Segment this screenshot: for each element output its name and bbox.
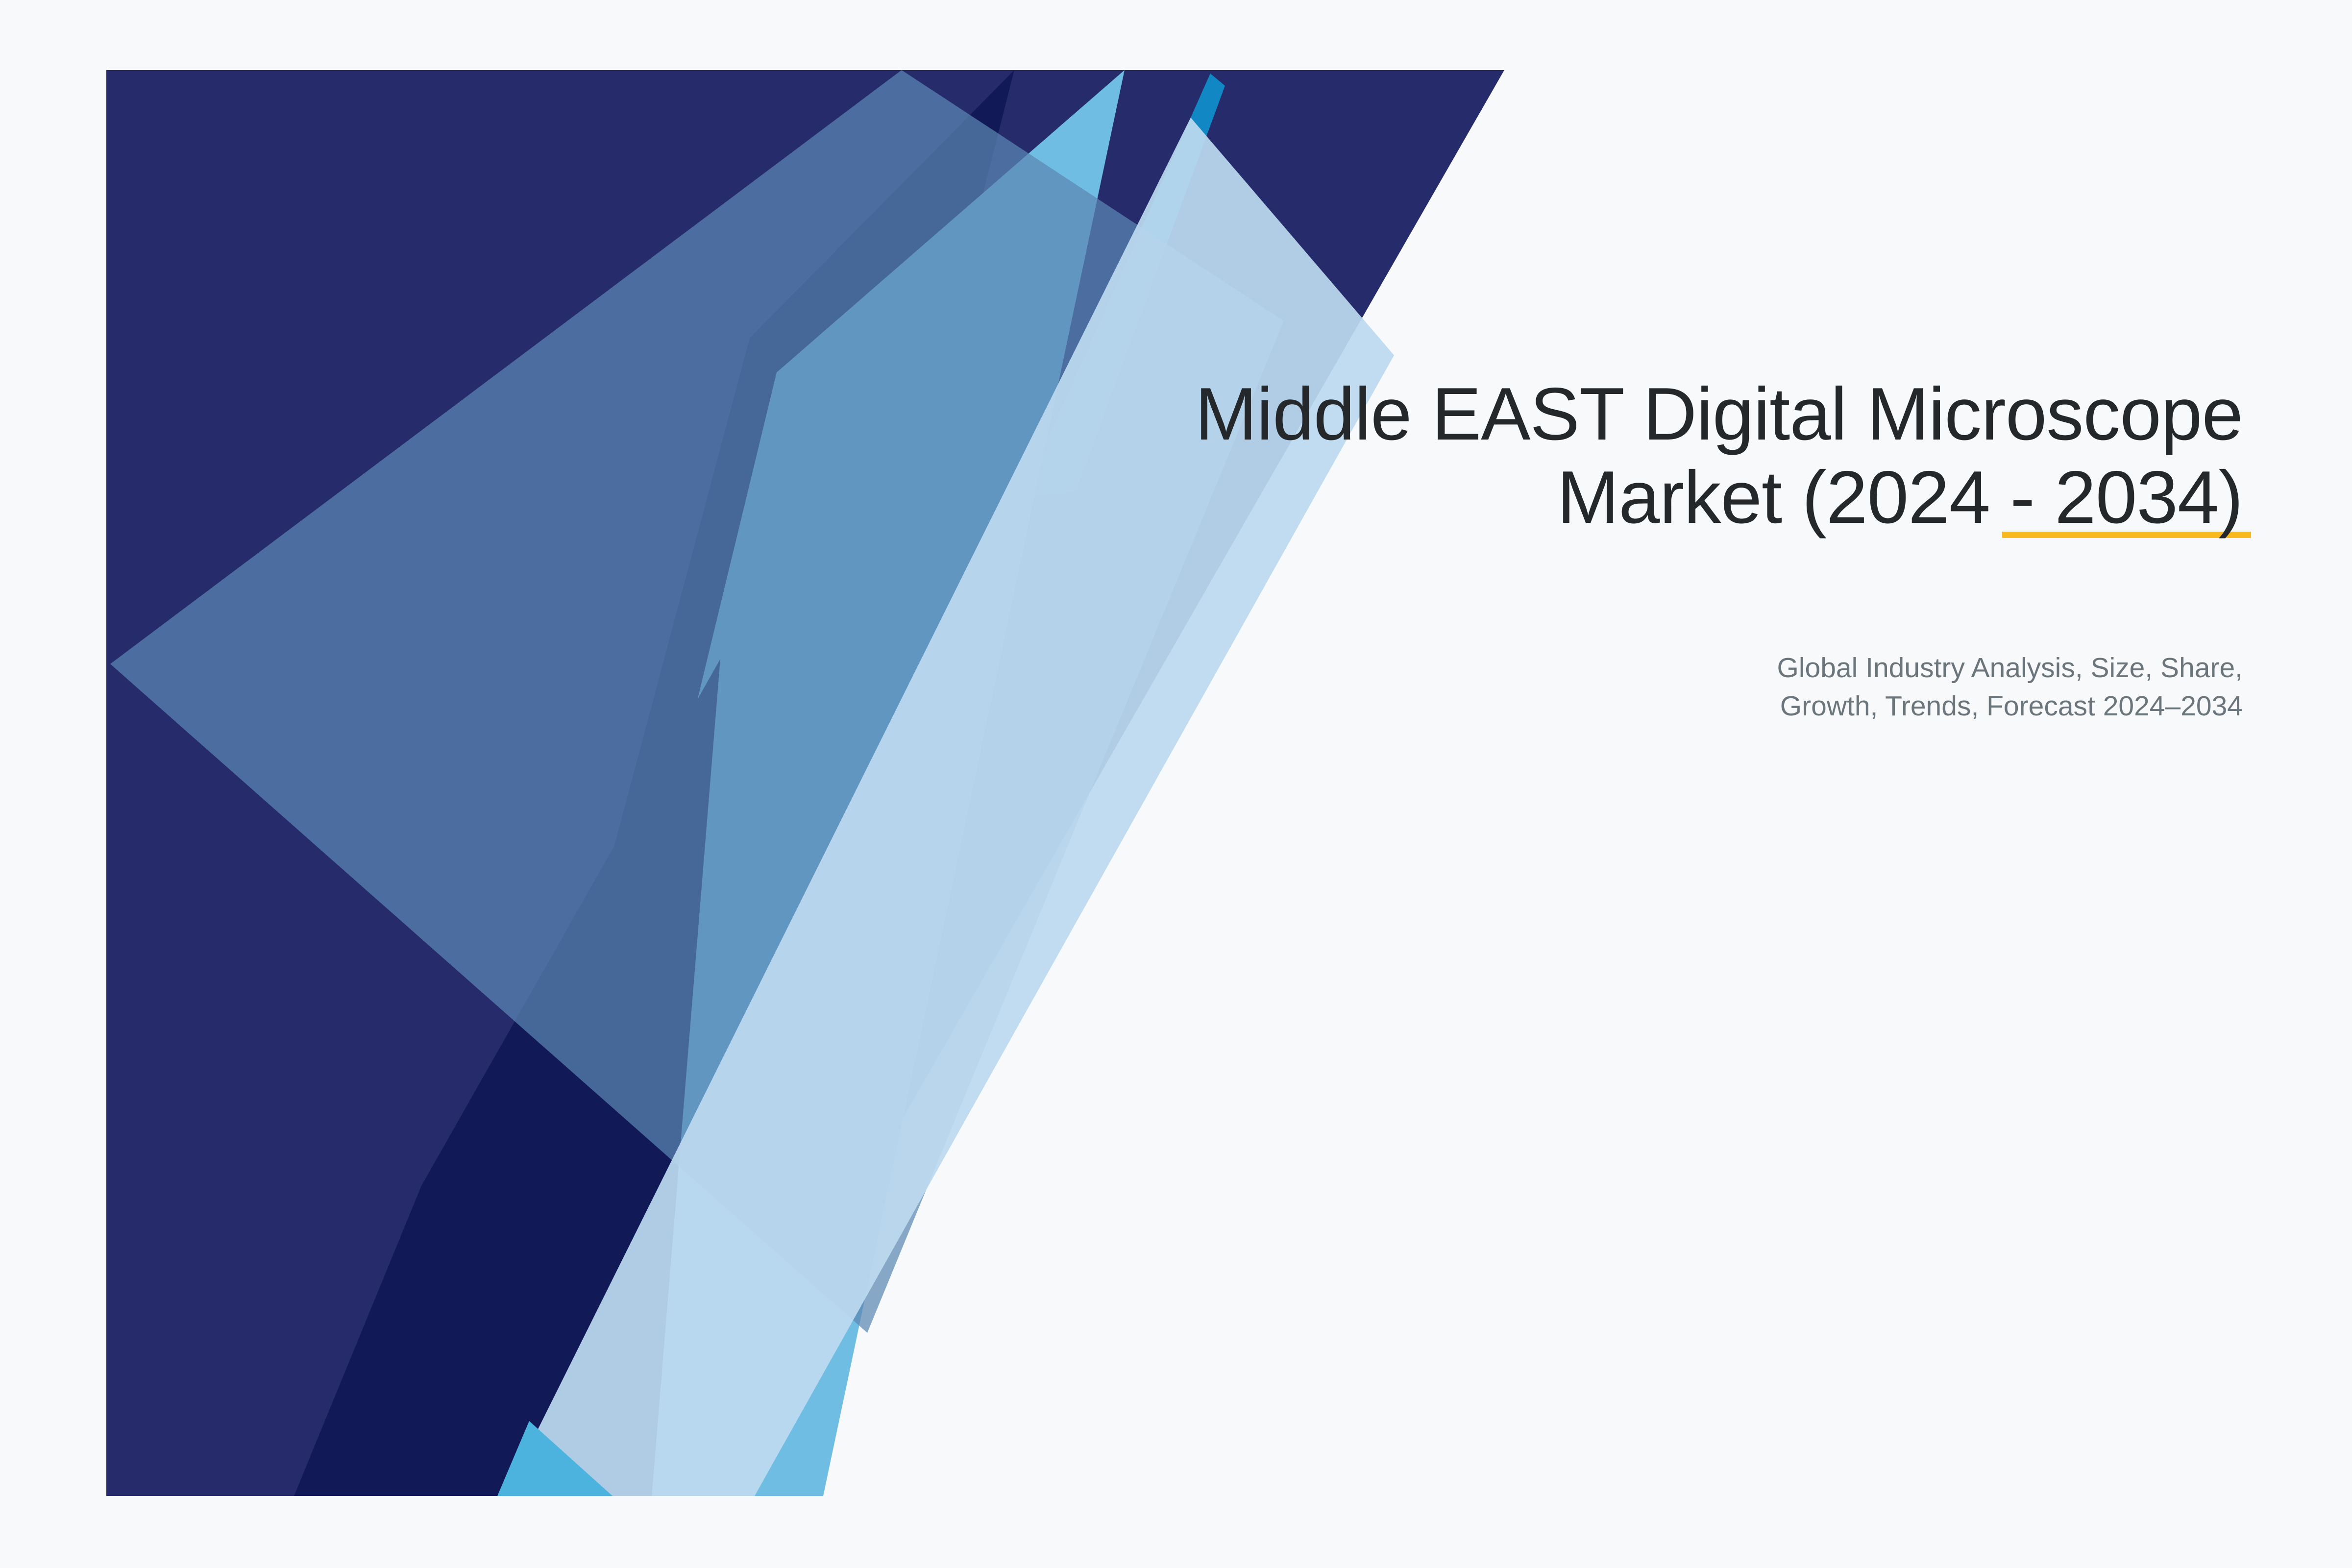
page-title: Middle EAST Digital Microscope Market (2…: [1028, 372, 2243, 539]
subtitle-block: Global Industry Analysis, Size, Share, G…: [1410, 649, 2243, 725]
abstract-geometric-cover-graphic: [0, 0, 2352, 1568]
report-cover-page: Middle EAST Digital Microscope Market (2…: [0, 0, 2352, 1568]
page-subtitle: Global Industry Analysis, Size, Share, G…: [1410, 649, 2243, 725]
title-block: Middle EAST Digital Microscope Market (2…: [1028, 372, 2243, 539]
